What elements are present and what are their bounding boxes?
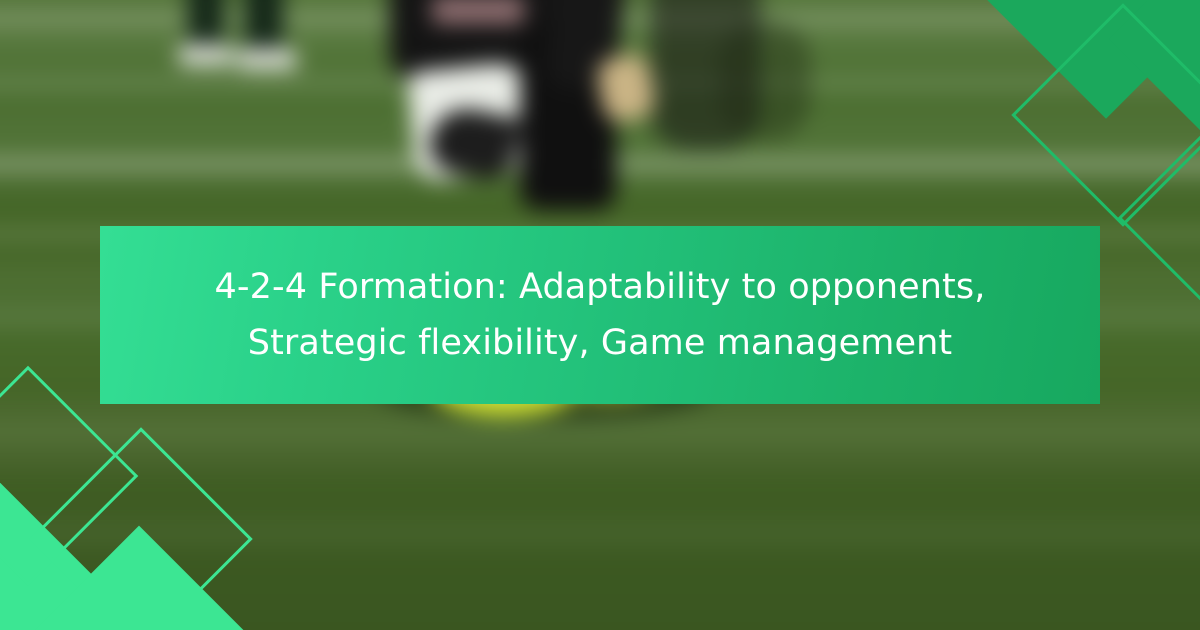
social-share-card: 4-2-4 Formation: Adaptability to opponen…: [0, 0, 1200, 630]
secondary-player-leg: [245, 0, 283, 50]
title-banner: 4-2-4 Formation: Adaptability to opponen…: [100, 226, 1100, 404]
player-jersey-badge: [432, 0, 524, 24]
pitch-line: [0, 520, 1200, 546]
background-figure: [720, 20, 810, 140]
secondary-player-leg: [188, 0, 224, 46]
banner-title: 4-2-4 Formation: Adaptability to opponen…: [215, 259, 986, 371]
secondary-player-boot: [236, 48, 298, 70]
secondary-player-boot: [178, 44, 234, 66]
pitch-line: [0, 422, 1200, 444]
